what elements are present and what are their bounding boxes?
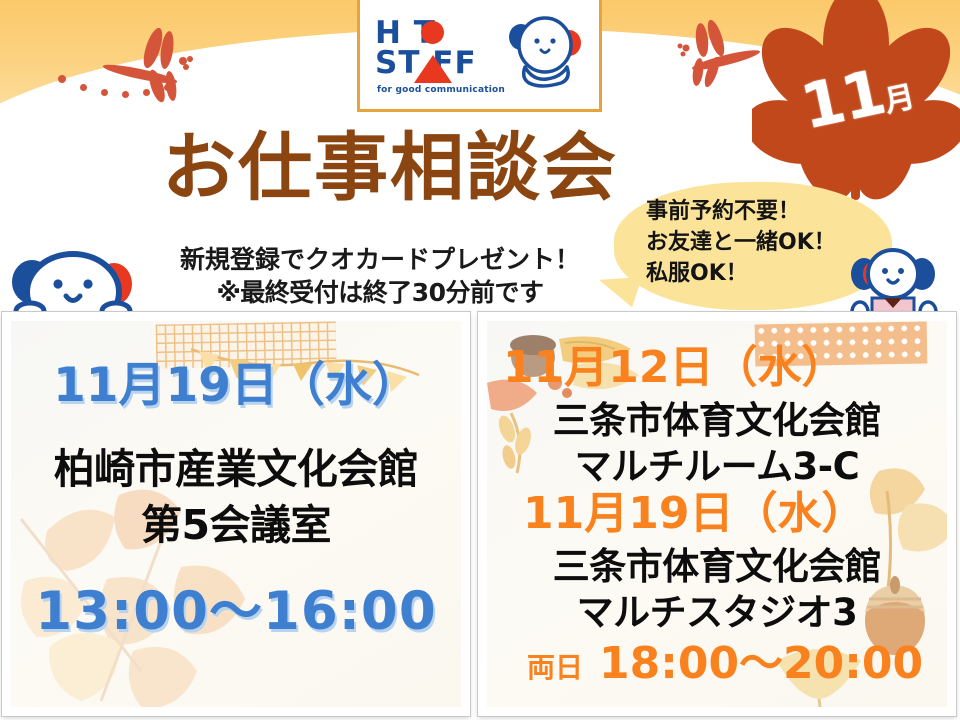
logo-o-circle-icon [421, 21, 444, 44]
event-room-sanjo-1: マルチルーム3-C [487, 445, 947, 489]
event-panel-sanjo: 11月12日（水） 三条市体育文化会館 マルチルーム3-C 11月19日（水） … [478, 312, 956, 716]
bubble-line-1: 事前予約不要！ [646, 196, 836, 227]
info-bubble-text: 事前予約不要！ お友達と一緒OK！ 私服OK！ [646, 196, 836, 289]
event-room-left: 第5会議室 [11, 501, 461, 550]
event-time-left: 13:00〜16:00 [11, 583, 461, 641]
flyer-canvas: 11月 H T ST FF for good communication [0, 0, 960, 720]
dragonfly-icon-left [95, 28, 225, 113]
month-badge-text: 11月 [752, 0, 960, 202]
logo-tagline: for good communication [377, 85, 505, 95]
subtitle-block: 新規登録でクオカードプレゼント！ ※最終受付は終了30分前です [120, 243, 640, 309]
month-suffix: 月 [881, 80, 916, 120]
bubble-line-3: 私服OK！ [646, 258, 836, 289]
month-number: 11 [794, 55, 890, 144]
both-days-label: 両日 [527, 651, 583, 685]
bubble-line-2: お友達と一緒OK！ [646, 227, 836, 258]
subtitle-line-1: 新規登録でクオカードプレゼント！ [120, 243, 640, 276]
logo-a-triangle-icon [414, 55, 452, 83]
event-room-sanjo-2: マルチスタジオ3 [487, 591, 947, 635]
subtitle-line-2: ※最終受付は終了30分前です [120, 276, 640, 309]
dragonfly-icon-right [648, 18, 768, 103]
month-badge-maple-leaf: 11月 [752, 0, 960, 202]
event-date-left: 11月19日（水） [11, 359, 461, 413]
event-venue-sanjo-1: 三条市体育文化会館 [487, 399, 947, 443]
logo-mascot-icon [507, 15, 589, 102]
event-panel-kashiwazaki: 11月19日（水） 柏崎市産業文化会館 第5会議室 13:00〜16:00 [2, 312, 470, 716]
event-time-sanjo: 18:00〜20:00 [599, 639, 923, 689]
event-venue-left: 柏崎市産業文化会館 [11, 445, 461, 494]
event-venue-sanjo-2: 三条市体育文化会館 [487, 545, 947, 589]
hot-staff-logo: H T ST FF for good communication [357, 0, 602, 112]
event-date-sanjo-2: 11月19日（水） [523, 489, 865, 539]
event-date-sanjo-1: 11月12日（水） [503, 343, 845, 393]
